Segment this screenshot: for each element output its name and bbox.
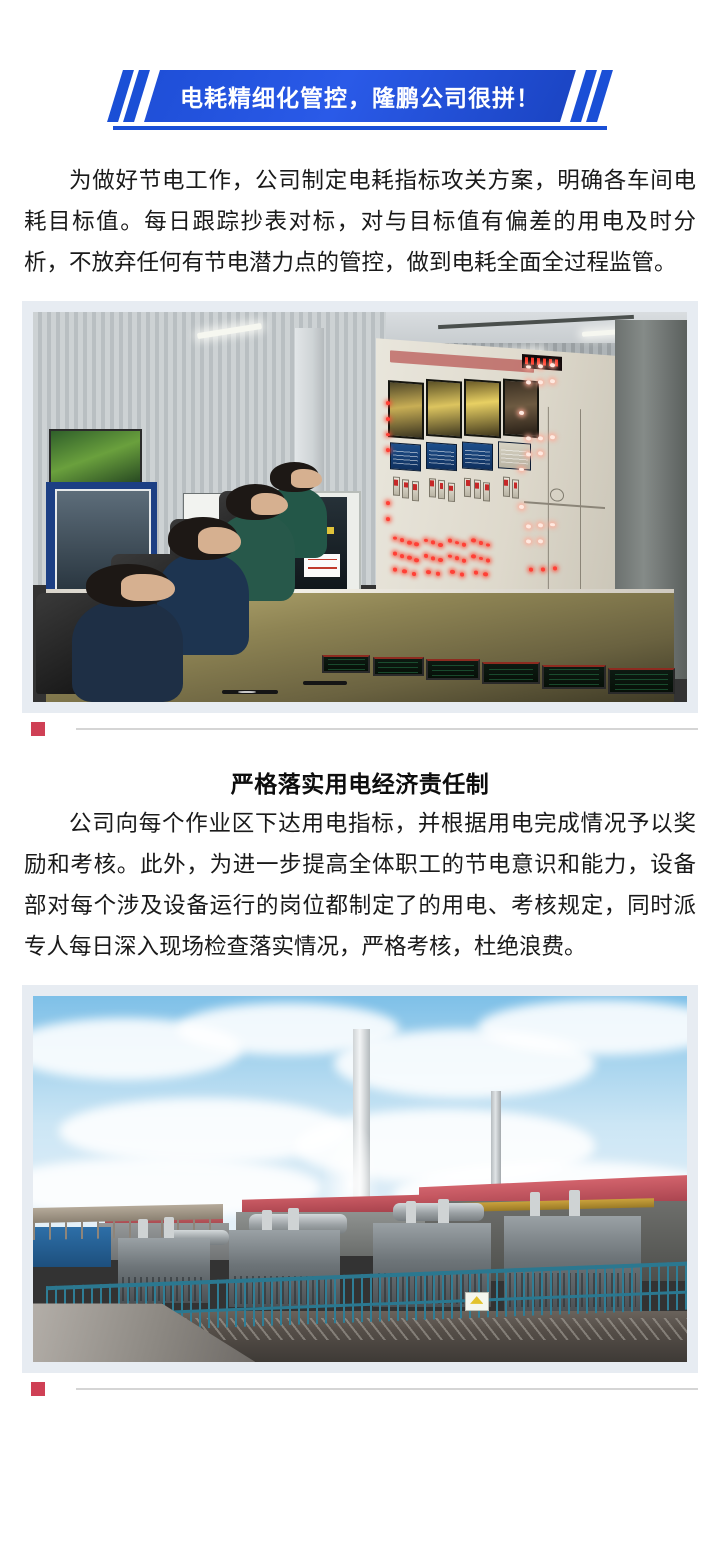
divider-line — [76, 1388, 698, 1390]
section-divider — [22, 1373, 698, 1405]
panel-switch — [484, 482, 491, 502]
indicator-lamp — [431, 556, 436, 560]
indicator-lamp — [424, 538, 429, 542]
panel-switch — [474, 480, 481, 500]
meter-scanlines — [465, 448, 490, 465]
indicator-lamp — [527, 524, 532, 528]
indicator-lamp — [462, 558, 467, 562]
panel-switch — [438, 480, 445, 500]
indicator-lamp — [426, 570, 431, 574]
operator-monitor — [426, 659, 480, 679]
indicator-lamp — [520, 505, 525, 509]
indicator-lamp — [539, 436, 544, 440]
panel-window-1 — [388, 380, 424, 440]
indicator-lamp — [386, 501, 391, 505]
panel-switch — [412, 481, 419, 501]
indicator-lamp — [450, 570, 455, 574]
indicator-lamp — [448, 539, 453, 543]
control-room-photo-frame — [22, 301, 698, 713]
warning-sign-icon — [465, 1292, 489, 1311]
indicator-lamp — [386, 517, 391, 521]
panel-meter-1 — [391, 442, 422, 471]
panel-window-2 — [426, 379, 462, 439]
indicator-lamp — [424, 554, 429, 558]
article-page: 电耗精细化管控，隆鹏公司很拼！ 为做好节电工作，公司制定电耗指标攻关方案，明确各… — [0, 60, 720, 1548]
mouse-pad — [303, 681, 347, 684]
indicator-lamp — [551, 379, 556, 383]
panel-switch — [429, 478, 436, 498]
operator-monitor — [542, 665, 606, 689]
pipe-bridge — [33, 1204, 223, 1223]
substation-photo — [33, 996, 687, 1362]
indicator-lamp — [415, 558, 420, 562]
divider-square-icon — [31, 1382, 45, 1396]
panel-window-3 — [465, 379, 501, 439]
indicator-lamp — [436, 572, 441, 576]
control-room-photo — [33, 312, 687, 702]
panel-title-plate — [391, 350, 534, 373]
panel-switch — [393, 477, 400, 497]
indicator-lamp — [484, 572, 489, 576]
substation-photo-frame — [22, 985, 698, 1373]
divider-line — [76, 728, 698, 730]
panel-switch — [465, 477, 472, 497]
indicator-lamp — [393, 567, 398, 571]
indicator-lamp — [474, 570, 479, 574]
indicator-lamp — [431, 540, 436, 544]
section-divider — [22, 713, 698, 745]
indicator-lamp — [407, 540, 412, 544]
panel-switch — [448, 482, 455, 502]
panel-switch — [403, 479, 410, 499]
banner-header: 电耗精细化管控，隆鹏公司很拼！ — [0, 60, 720, 138]
indicator-lamp — [393, 552, 398, 556]
meter-scanlines — [429, 448, 454, 465]
indicator-lamp — [486, 559, 491, 563]
wall-monitor — [49, 429, 141, 484]
section-subheading: 严格落实用电经济责任制 — [0, 765, 720, 799]
indicator-lamp — [455, 541, 460, 545]
divider-square-icon — [31, 722, 45, 736]
indicator-lamp — [539, 380, 544, 384]
panel-switch — [503, 477, 510, 497]
indicator-lamp — [415, 542, 420, 546]
indicator-lamp — [400, 538, 405, 542]
operator-monitor — [608, 668, 675, 694]
operator-monitor — [482, 662, 539, 683]
indicator-lamp — [438, 543, 443, 547]
paragraph-one: 为做好节电工作，公司制定电耗指标攻关方案，明确各车间电耗目标值。每日跟踪抄表对标… — [24, 160, 696, 283]
indicator-lamp — [400, 554, 405, 558]
indicator-lamp — [472, 554, 477, 558]
operator-person — [72, 601, 183, 702]
indicator-lamp — [407, 556, 412, 560]
indicator-lamp — [472, 539, 477, 543]
indicator-lamp — [479, 541, 484, 545]
operator-monitor — [373, 657, 424, 676]
single-line-diagram — [524, 405, 605, 604]
operator-monitor — [322, 655, 370, 673]
indicator-lamp — [462, 543, 467, 547]
indicator-lamp — [486, 543, 491, 547]
indicator-lamp — [460, 572, 465, 576]
panel-meter-2 — [426, 442, 457, 471]
banner-title: 电耗精细化管控，隆鹏公司很拼！ — [111, 70, 609, 122]
banner-underline — [113, 126, 607, 130]
panel-meter-3 — [462, 441, 493, 470]
indicator-lamp — [448, 554, 453, 558]
indicator-lamp — [455, 556, 460, 560]
indicator-lamp — [539, 539, 544, 543]
meter-scanlines — [393, 449, 418, 466]
panel-switch — [512, 479, 519, 499]
indicator-lamp — [438, 558, 443, 562]
indicator-lamp — [393, 536, 398, 540]
indicator-lamp — [403, 570, 408, 574]
paragraph-two: 公司向每个作业区下达用电指标，并根据用电完成情况予以奖励和考核。此外，为进一步提… — [24, 803, 696, 967]
banner-inner: 电耗精细化管控，隆鹏公司很拼！ — [111, 70, 609, 128]
indicator-lamp — [412, 572, 417, 576]
indicator-lamp — [479, 556, 484, 560]
